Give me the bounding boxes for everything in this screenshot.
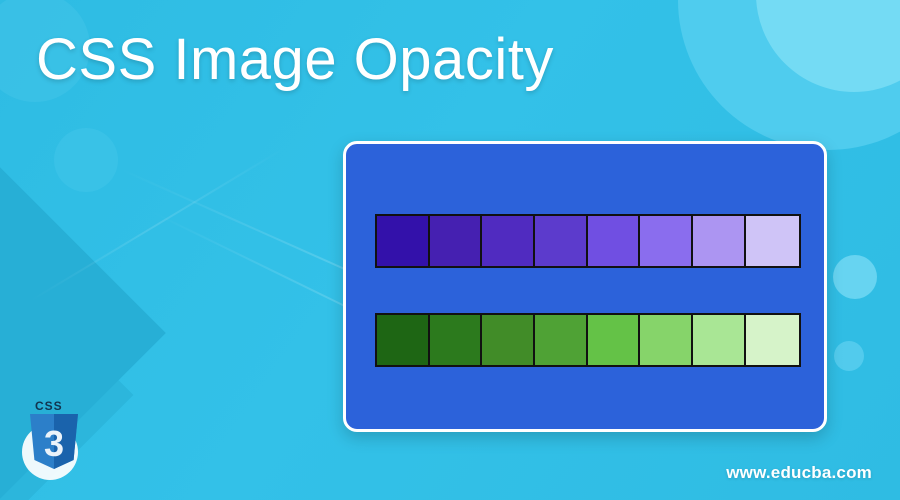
swatch-purple-opacity-row-4 [588, 216, 641, 266]
swatch-purple-opacity-row-2 [482, 216, 535, 266]
watermark-url: www.educba.com [726, 463, 872, 483]
shield-icon: 3 [28, 412, 80, 472]
swatch-purple-opacity-row-5 [640, 216, 693, 266]
swatch-purple-opacity-row-7 [746, 216, 799, 266]
logo-numeral: 3 [44, 423, 64, 464]
green-opacity-row [375, 313, 801, 367]
swatch-green-opacity-row-4 [588, 315, 641, 365]
swatch-green-opacity-row-6 [693, 315, 746, 365]
swatch-green-opacity-row-7 [746, 315, 799, 365]
swatch-purple-opacity-row-3 [535, 216, 588, 266]
logo-css-label: CSS [35, 399, 63, 413]
swatch-green-opacity-row-3 [535, 315, 588, 365]
swatch-purple-opacity-row-1 [430, 216, 483, 266]
swatch-green-opacity-row-1 [430, 315, 483, 365]
page-title: CSS Image Opacity [36, 26, 554, 93]
swatch-green-opacity-row-0 [377, 315, 430, 365]
swatch-green-opacity-row-5 [640, 315, 693, 365]
swatch-purple-opacity-row-6 [693, 216, 746, 266]
css3-logo: CSS 3 [18, 398, 90, 480]
opacity-demo-panel [343, 141, 827, 432]
swatch-purple-opacity-row-0 [377, 216, 430, 266]
purple-opacity-row [375, 214, 801, 268]
banner-root: CSS Image Opacity CSS 3 www.educba.com [0, 0, 900, 500]
swatch-green-opacity-row-2 [482, 315, 535, 365]
